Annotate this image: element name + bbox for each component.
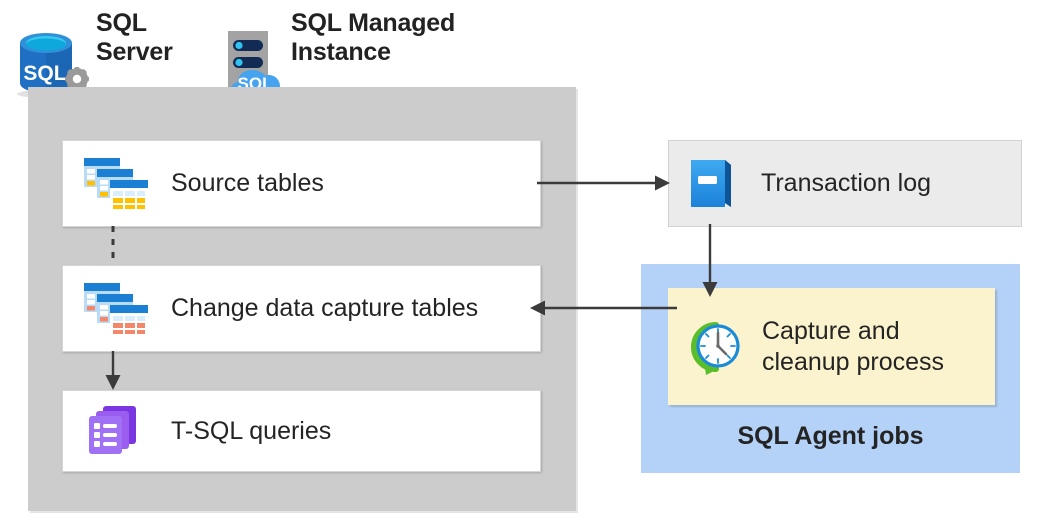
source-tables-box[interactable]: Source tables [62, 140, 541, 227]
svg-text:SQL: SQL [23, 62, 66, 85]
sql-server-database-icon: SQL [16, 28, 88, 94]
connector-transaction-log-to-capture-process [698, 224, 728, 300]
change-data-capture-tables-label: Change data capture tables [171, 294, 478, 323]
t-sql-queries-label: T-SQL queries [171, 417, 331, 446]
capture-process-line2: cleanup process [762, 348, 944, 376]
connector-capture-process-to-cdc-tables [527, 293, 677, 323]
change-data-capture-tables-box[interactable]: Change data capture tables [62, 265, 541, 352]
t-sql-queries-box[interactable]: T-SQL queries [62, 390, 541, 472]
sql-agent-jobs-title: SQL Agent jobs [641, 422, 1020, 451]
capture-and-cleanup-process-box[interactable]: Capture and cleanup process [668, 288, 995, 405]
sql-server-title-line1: SQL [96, 9, 147, 37]
tables-stack-icon [83, 156, 149, 212]
sql-managed-instance-title-line2: Instance [291, 38, 391, 66]
tables-stack-icon [83, 281, 149, 337]
connector-source-tables-to-transaction-log [537, 168, 673, 198]
sql-server-title: SQL Server [96, 9, 216, 67]
sql-managed-instance-icon: SQL [222, 27, 288, 95]
capture-process-line1: Capture and [762, 317, 900, 345]
query-list-icon [83, 403, 149, 459]
capture-and-cleanup-process-label: Capture and cleanup process [762, 316, 944, 378]
transaction-log-box[interactable]: Transaction log [668, 140, 1022, 227]
sql-server-title-line2: Server [96, 38, 173, 66]
clock-refresh-icon [688, 319, 744, 375]
log-book-icon [687, 156, 739, 212]
transaction-log-label: Transaction log [761, 169, 931, 198]
sql-managed-instance-title-line1: SQL Managed [291, 9, 455, 37]
sql-managed-instance-title: SQL Managed Instance [291, 9, 521, 67]
connector-source-tables-to-cdc-tables [104, 226, 124, 266]
connector-cdc-tables-to-t-sql-queries [104, 351, 124, 393]
source-tables-label: Source tables [171, 169, 324, 198]
diagram-canvas: SQL SQL Server [0, 0, 1044, 527]
